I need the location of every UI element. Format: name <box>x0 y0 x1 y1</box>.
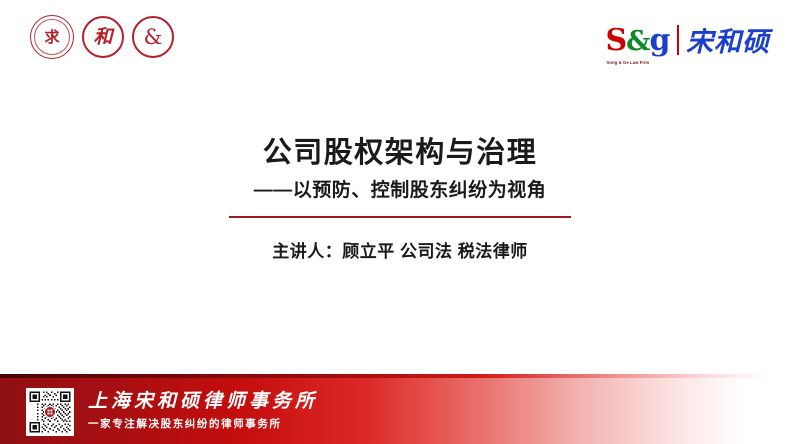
he-seal-icon: 和 <box>82 16 124 58</box>
footer-text-group: 上海宋和硕律师事务所 一家专注解决股东纠纷的律师事务所 <box>88 390 318 430</box>
university-seal-glyph: 求 <box>44 30 59 45</box>
brand-divider-bar <box>677 25 680 55</box>
firm-name: 上海宋和硕律师事务所 <box>88 390 318 413</box>
brand-letter-ampersand: & <box>626 28 649 55</box>
title-block: 公司股权架构与治理 ——以预防、控制股东纠纷为视角 主讲人：顾立平 公司法 税法… <box>0 136 800 262</box>
brand-letter-g: g <box>650 26 670 56</box>
ampersand-seal-glyph: & <box>144 27 163 48</box>
page-subtitle: ——以预防、控制股东纠纷为视角 <box>0 180 800 203</box>
ampersand-seal-icon: & <box>132 16 174 58</box>
qr-code[interactable] <box>26 388 74 436</box>
he-seal-glyph: 和 <box>93 28 112 47</box>
seal-logo-group: 求 和 & <box>30 15 174 59</box>
brand-subtext: Song & Ge Law Firm <box>606 61 649 65</box>
presentation-slide: 求 和 & S & g Song & Ge Law Firm 宋和硕 公司股权架… <box>0 0 800 444</box>
page-title: 公司股权架构与治理 <box>0 136 800 171</box>
firm-tagline: 一家专注解决股东纠纷的律师事务所 <box>88 418 318 431</box>
brand-chinese-name: 宋和硕 <box>686 29 770 56</box>
brand-logo: S & g Song & Ge Law Firm 宋和硕 <box>605 18 770 56</box>
title-divider-rule <box>229 216 571 218</box>
brand-wordmark: S & g Song & Ge Law Firm <box>605 26 669 56</box>
presenter-line: 主讲人：顾立平 公司法 税法律师 <box>0 237 800 262</box>
brand-letter-s: S <box>605 26 626 56</box>
footer-banner: 上海宋和硕律师事务所 一家专注解决股东纠纷的律师事务所 <box>0 378 800 444</box>
university-seal-icon: 求 <box>30 15 74 59</box>
